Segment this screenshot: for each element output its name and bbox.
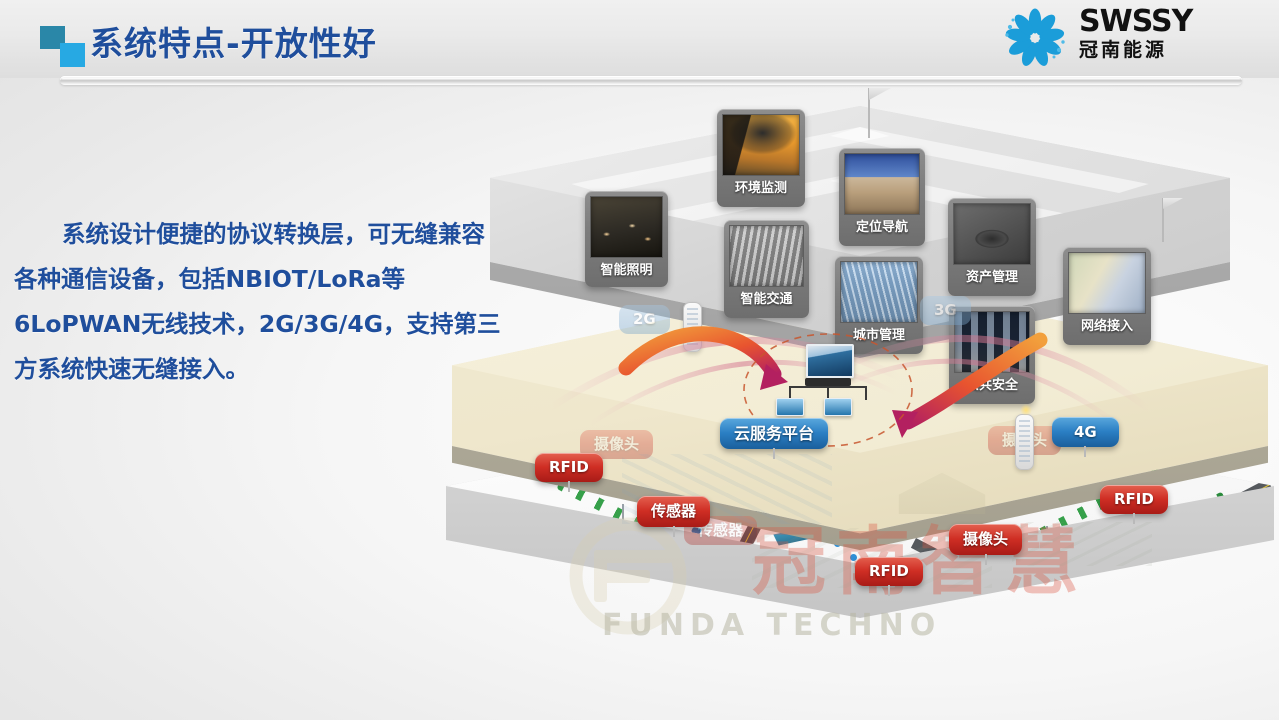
- tag-stem: [888, 585, 890, 596]
- tag-cloud-service-platform[interactable]: 云服务平台: [720, 418, 828, 449]
- tag-rfid[interactable]: RFID: [1100, 485, 1168, 514]
- brand-name: SWSSY: [1079, 7, 1192, 37]
- network-tag-2g: 2G: [619, 305, 670, 334]
- network-hub-icon: [805, 378, 851, 386]
- square-icon-bottom: [60, 43, 85, 67]
- tag-stem: [673, 526, 675, 537]
- network-tag-3g: 3G: [920, 296, 971, 325]
- data-flow-overlay: [430, 78, 1279, 720]
- decorative-squares-icon: [40, 26, 90, 70]
- signal-antenna-icon: [1020, 404, 1032, 416]
- tag-4g[interactable]: 4G: [1052, 417, 1119, 447]
- network-cable: [789, 386, 867, 388]
- brand-logo-text: SWSSY 冠南能源: [1079, 7, 1192, 60]
- network-cable: [865, 386, 867, 400]
- tag-rfid[interactable]: RFID: [535, 453, 603, 482]
- tag-stem: [1133, 513, 1135, 524]
- brand-subtitle: 冠南能源: [1079, 40, 1192, 60]
- slide-header: 系统特点-开放性好: [0, 0, 1279, 78]
- smart-city-architecture-diagram: 冠南智慧 FUNDA TECHNO 摄像头 传感器 摄像头 智能照明: [430, 78, 1279, 720]
- tag-stem: [985, 554, 987, 565]
- tag-stem: [568, 481, 570, 492]
- client-pc-icon: [824, 398, 852, 416]
- tag-stem: [1084, 446, 1086, 457]
- server-monitor-icon: [806, 344, 854, 378]
- tag-stem: [773, 448, 775, 459]
- tag-rfid[interactable]: RFID: [855, 557, 923, 586]
- mobile-phone-icon: [1015, 414, 1034, 470]
- tag-sensor[interactable]: 传感器: [637, 496, 710, 527]
- page-title: 系统特点-开放性好: [90, 17, 377, 65]
- body-paragraph: 系统设计便捷的协议转换层，可无缝兼容各种通信设备，包括NBIOT/LoRa等6L…: [14, 212, 502, 392]
- client-pc-icon: [776, 398, 804, 416]
- swssy-petal-flower-logo: [999, 7, 1071, 69]
- tag-camera[interactable]: 摄像头: [949, 524, 1022, 555]
- brand-logo: SWSSY 冠南能源: [999, 5, 1269, 71]
